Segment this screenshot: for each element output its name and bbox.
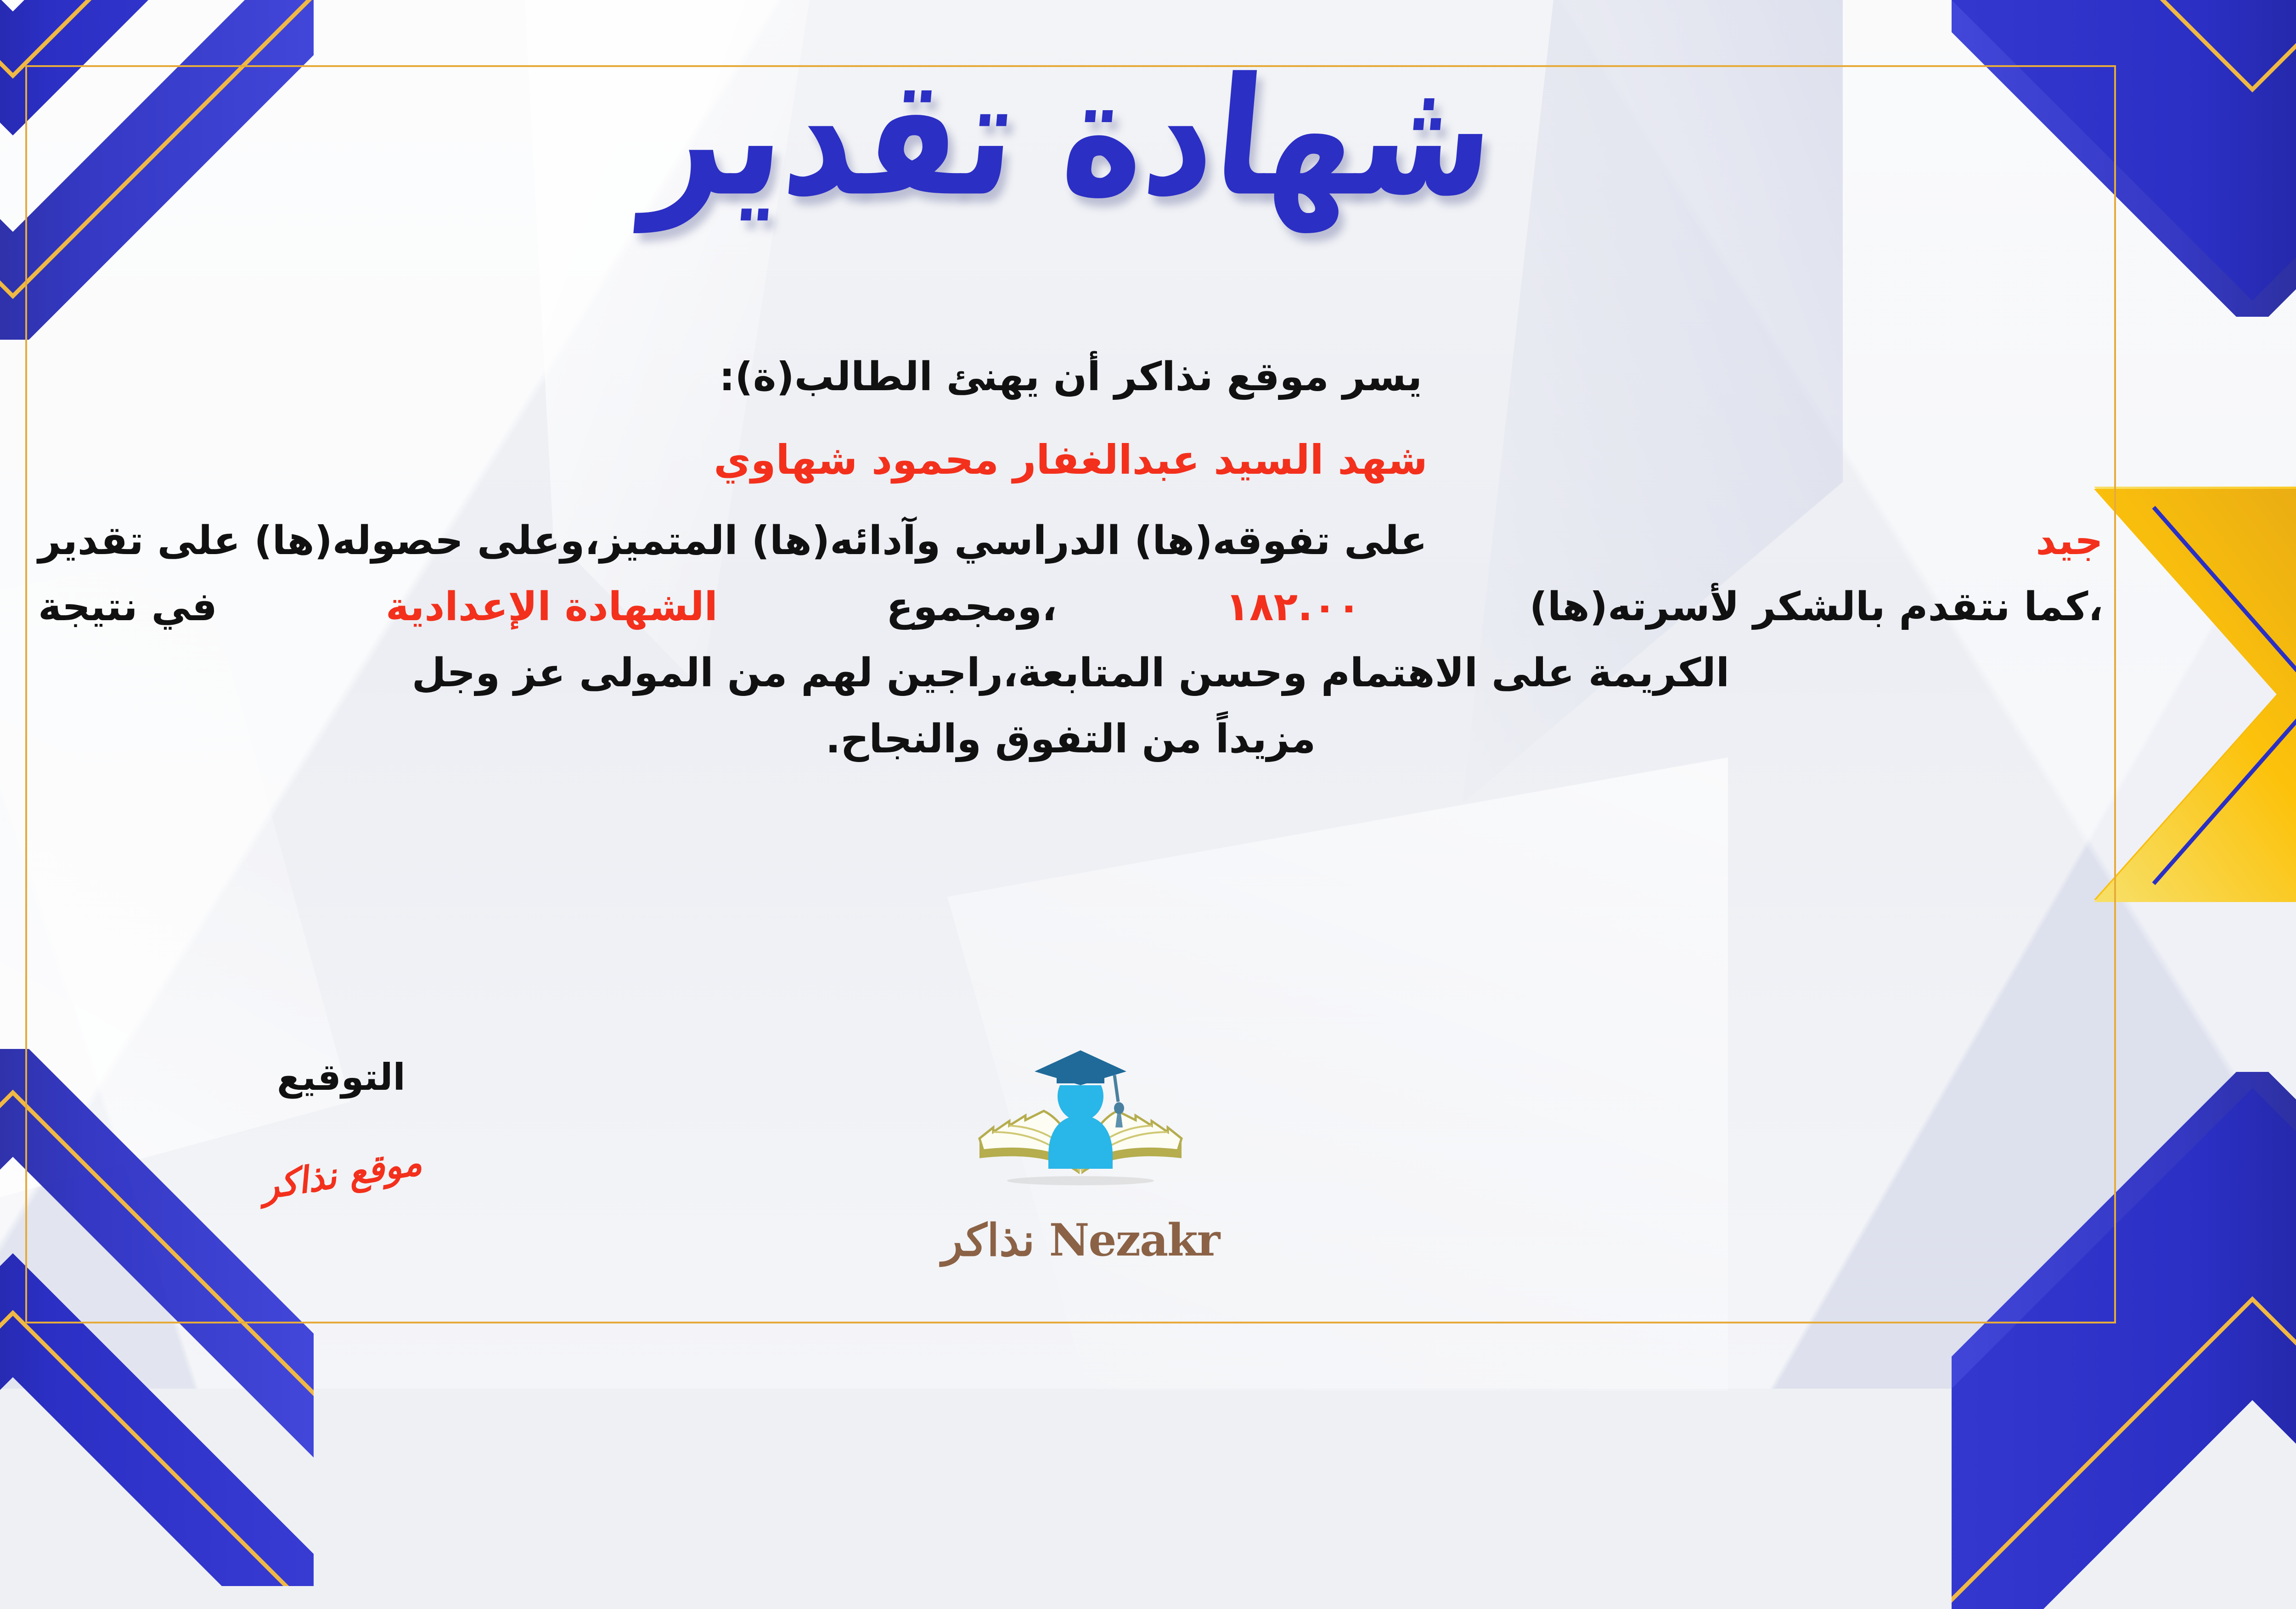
result-prefix: في نتيجة — [38, 579, 217, 635]
total-score: ١٨٢.٠٠ — [1226, 579, 1361, 635]
family-thanks-line: الكريمة على الاهتمام وحسن المتابعة،راجين… — [38, 645, 2103, 701]
thanks-text: ،كما نتقدم بالشكر لأسرته(ها) — [1530, 579, 2103, 635]
signature-label: التوقيع — [167, 1056, 516, 1099]
total-label: ،ومجموع — [886, 579, 1057, 635]
achievement-line: جيد على تفوقه(ها) الدراسي وآدائه(ها) الم… — [38, 513, 2103, 569]
certificate-title: شهادة تقدير — [641, 56, 1501, 219]
exam-name: الشهادة الإعدادية — [386, 579, 718, 635]
grade-value: جيد — [2036, 513, 2103, 569]
greeting-line: يسر موقع نذاكر أن يهنئ الطالب(ة): — [38, 349, 2103, 405]
brand-logo: Nezakr نذاكر — [915, 1047, 1246, 1262]
certificate-title-wrap: شهادة تقدير — [0, 69, 2296, 207]
signature-block: التوقيع موقع نذاكر — [167, 1056, 516, 1195]
result-line: ،كما نتقدم بالشكر لأسرته(ها) ١٨٢.٠٠ ،ومج… — [38, 579, 2103, 635]
student-name: شهد السيد عبدالغفار محمود شهاوي — [38, 432, 2103, 489]
brand-name: Nezakr نذاكر — [915, 1218, 1246, 1262]
graduate-book-icon — [975, 1047, 1186, 1217]
certificate-body: يسر موقع نذاكر أن يهنئ الطالب(ة): شهد ال… — [38, 349, 2103, 778]
achievement-text: على تفوقه(ها) الدراسي وآدائه(ها) المتميز… — [38, 513, 1427, 569]
wishes-line: مزيداً من التفوق والنجاح. — [38, 711, 2103, 767]
